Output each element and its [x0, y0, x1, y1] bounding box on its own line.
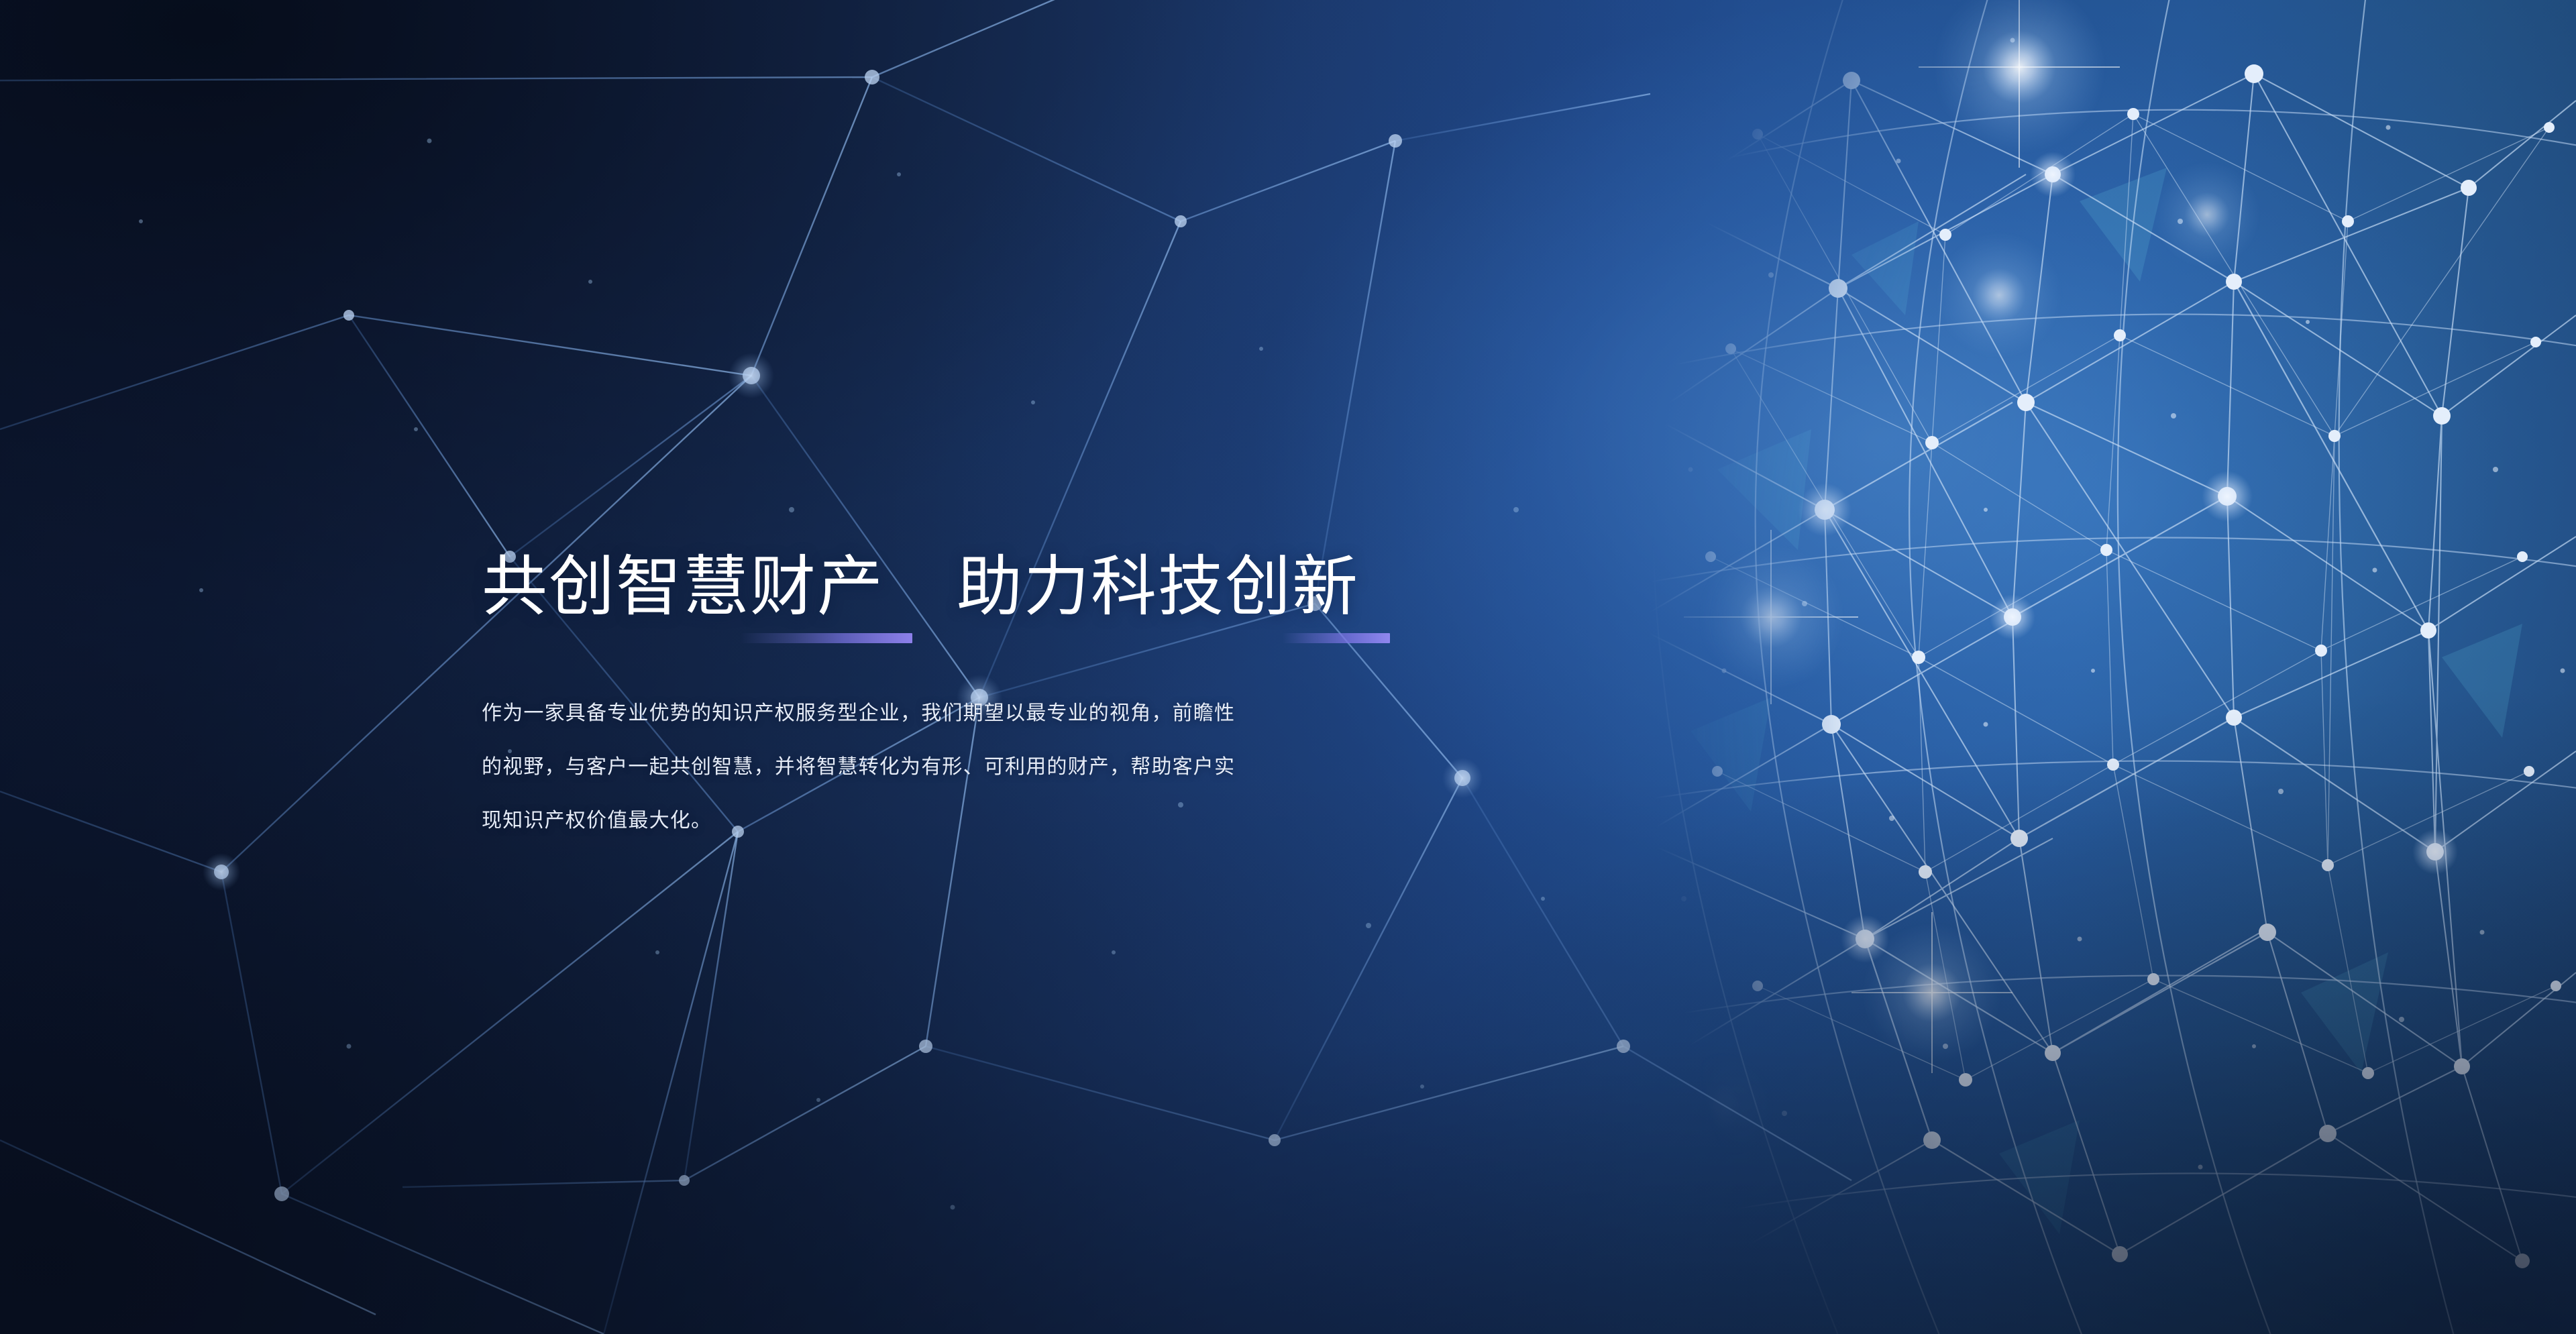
headline-accent-group [482, 633, 1488, 656]
hero-text-block: 共创智慧财产 助力科技创新 作为一家具备专业优势的知识产权服务型企业，我们期望以… [482, 549, 1488, 868]
hero-description: 作为一家具备专业优势的知识产权服务型企业，我们期望以最专业的视角，前瞻性的视野，… [482, 687, 1244, 848]
headline-accent-bar-1 [741, 633, 912, 643]
page-title: 共创智慧财产 助力科技创新 [482, 549, 1488, 625]
headline-phrase-2: 助力科技创新 [957, 549, 1359, 625]
banner-hero: 共创智慧财产 助力科技创新 作为一家具备专业优势的知识产权服务型企业，我们期望以… [0, 0, 2576, 1334]
headline-phrase-1: 共创智慧财产 [482, 549, 884, 625]
headline-accent-bar-2 [1283, 633, 1390, 643]
